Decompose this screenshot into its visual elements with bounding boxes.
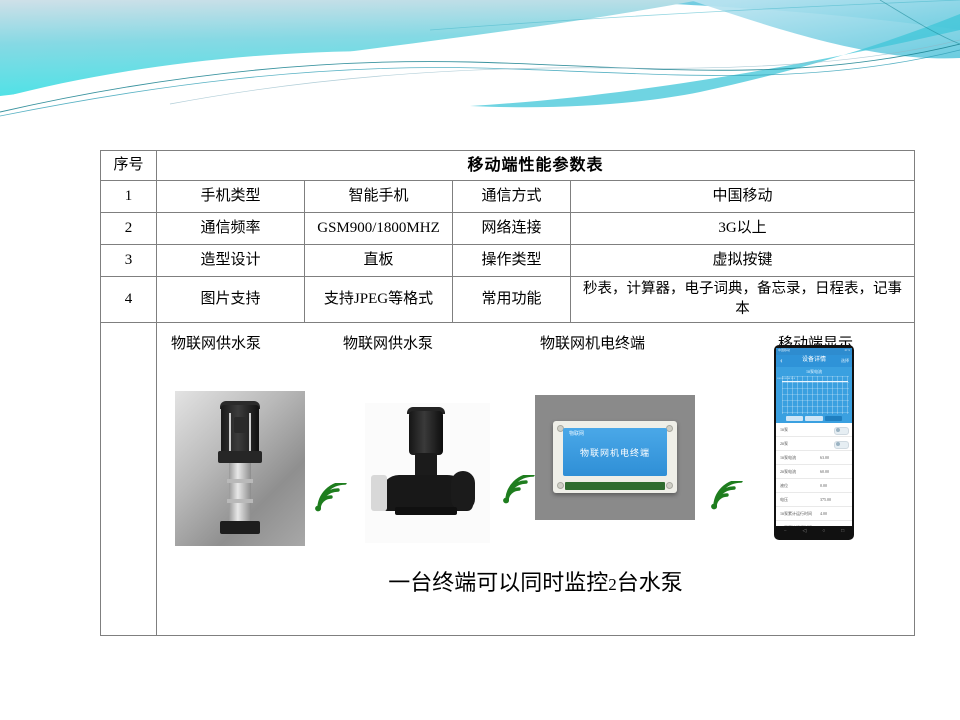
toggle-switch[interactable]: [834, 441, 849, 449]
diagram-cell: 物联网供水泵 物联网供水泵 物联网机电终端 移动端显示: [157, 323, 915, 636]
phone-screen: 中国移动 41% ‹ 设备详情 选择 1#泵电: [776, 348, 852, 526]
row-val2: 3G以上: [571, 213, 915, 245]
list-item[interactable]: 2#泵电流 60.00: [776, 465, 852, 479]
item-value: 63.00: [820, 455, 829, 460]
item-label: 2#泵电流: [780, 469, 796, 474]
row-val1: GSM900/1800MHZ: [305, 213, 453, 245]
row-val2: 秒表，计算器，电子词典，备忘录，日程表，记事本: [571, 277, 915, 323]
row-index: 1: [101, 181, 157, 213]
diagram-index-spacer: [101, 323, 157, 636]
item-label: 1#泵累计运行时间: [780, 511, 812, 516]
chart-axis-labels: 100 80 60 40 20 0: [777, 377, 795, 381]
item-label: 电压: [780, 497, 788, 502]
toggle-switch[interactable]: [834, 427, 849, 435]
table-row: 2 通信频率 GSM900/1800MHZ 网络连接 3G以上: [101, 213, 915, 245]
item-value: 0.00: [820, 483, 827, 488]
nav-back-icon[interactable]: ◁: [803, 529, 807, 535]
row-key2: 网络连接: [453, 213, 571, 245]
phone-navigation-bar[interactable]: − ◁ ○ □: [776, 526, 852, 538]
item-label: 2#泵: [780, 441, 788, 446]
wifi-signal-icon: [709, 481, 743, 511]
row-key2: 常用功能: [453, 277, 571, 323]
list-item[interactable]: 电压 375.00: [776, 493, 852, 507]
item-value: 60.00: [820, 469, 829, 474]
list-item[interactable]: 1#泵累计运行时间 4.00: [776, 507, 852, 521]
terminal-label-text: 物联网机电终端: [563, 448, 667, 459]
phone-detail-list: 1#泵 2#泵 1#泵电流 63.00: [776, 423, 852, 526]
list-item[interactable]: 液位 0.00: [776, 479, 852, 493]
caption-pump-vertical: 物联网供水泵: [171, 335, 261, 354]
chart-title: 1#泵电流: [776, 369, 852, 374]
row-val1: 支持JPEG等格式: [305, 277, 453, 323]
row-key1: 手机类型: [157, 181, 305, 213]
phone-status-bar: 中国移动 41%: [776, 348, 852, 355]
diagram-row: 物联网供水泵 物联网供水泵 物联网机电终端 移动端显示: [101, 323, 915, 636]
terminal-brand-text: 物联网: [569, 432, 584, 438]
mobile-parameter-table: 序号 移动端性能参数表 1 手机类型 智能手机 通信方式 中国移动 2 通信频率…: [100, 150, 915, 636]
item-label: 1#泵: [780, 427, 788, 432]
nav-recents-icon[interactable]: □: [841, 529, 844, 535]
chart-series-line: [782, 381, 848, 382]
row-val1: 直板: [305, 245, 453, 277]
list-item[interactable]: 2#泵: [776, 437, 852, 451]
table-row: 3 造型设计 直板 操作类型 虚拟按键: [101, 245, 915, 277]
wifi-signal-icon: [313, 483, 347, 513]
item-value: 4.00: [820, 511, 827, 516]
caption-number: 2: [608, 575, 617, 594]
caption-suffix: 台水泵: [617, 570, 683, 595]
phone-battery: 41%: [845, 349, 851, 353]
table-title: 移动端性能参数表: [157, 151, 915, 181]
photo-horizontal-pump: [365, 403, 490, 543]
nav-home-icon[interactable]: ○: [822, 529, 825, 535]
range-month[interactable]: [825, 416, 842, 421]
item-label: 1#泵电流: [780, 455, 796, 460]
caption-prefix: 一台终端可以同时监控: [388, 570, 608, 595]
list-item[interactable]: 1#泵: [776, 423, 852, 437]
phone-current-chart: 1#泵电流 100 80 60 40 20 0: [776, 367, 852, 423]
diagram-area: 物联网供水泵 物联网供水泵 物联网机电终端 移动端显示: [157, 323, 914, 635]
row-key2: 操作类型: [453, 245, 571, 277]
phone-carrier: 中国移动: [778, 349, 790, 353]
decorative-wave-header: [0, 0, 960, 118]
table-row: 1 手机类型 智能手机 通信方式 中国移动: [101, 181, 915, 213]
caption-pump-horizontal: 物联网供水泵: [343, 335, 433, 354]
item-value: 375.00: [820, 497, 831, 502]
row-key2: 通信方式: [453, 181, 571, 213]
row-key1: 通信频率: [157, 213, 305, 245]
nav-minimize-icon[interactable]: −: [784, 529, 787, 535]
table-row: 4 图片支持 支持JPEG等格式 常用功能 秒表，计算器，电子词典，备忘录，日程…: [101, 277, 915, 323]
index-header: 序号: [101, 151, 157, 181]
list-item[interactable]: 1#泵电流 63.00: [776, 451, 852, 465]
row-key1: 图片支持: [157, 277, 305, 323]
row-key1: 造型设计: [157, 245, 305, 277]
photo-vertical-pump: [175, 391, 305, 546]
item-label: 液位: [780, 483, 788, 488]
row-val1: 智能手机: [305, 181, 453, 213]
slide-canvas: 序号 移动端性能参数表 1 手机类型 智能手机 通信方式 中国移动 2 通信频率…: [0, 0, 960, 720]
phone-nav-action[interactable]: 选择: [841, 358, 849, 363]
range-hour[interactable]: [786, 416, 803, 421]
diagram-bottom-caption: 一台终端可以同时监控2台水泵: [157, 569, 914, 597]
chart-range-selector[interactable]: [786, 416, 842, 421]
row-val2: 中国移动: [571, 181, 915, 213]
terminal-label: 物联网 物联网机电终端: [563, 428, 667, 476]
row-val2: 虚拟按键: [571, 245, 915, 277]
table-header-row: 序号 移动端性能参数表: [101, 151, 915, 181]
row-index: 4: [101, 277, 157, 323]
row-index: 2: [101, 213, 157, 245]
photo-mobile-phone: 中国移动 41% ‹ 设备详情 选择 1#泵电: [774, 345, 854, 540]
caption-iot-terminal: 物联网机电终端: [540, 335, 645, 354]
photo-iot-terminal: 物联网 物联网机电终端: [535, 395, 695, 520]
phone-nav-bar: ‹ 设备详情 选择: [776, 355, 852, 367]
range-day[interactable]: [805, 416, 822, 421]
wifi-signal-icon: [501, 475, 535, 505]
row-index: 3: [101, 245, 157, 277]
